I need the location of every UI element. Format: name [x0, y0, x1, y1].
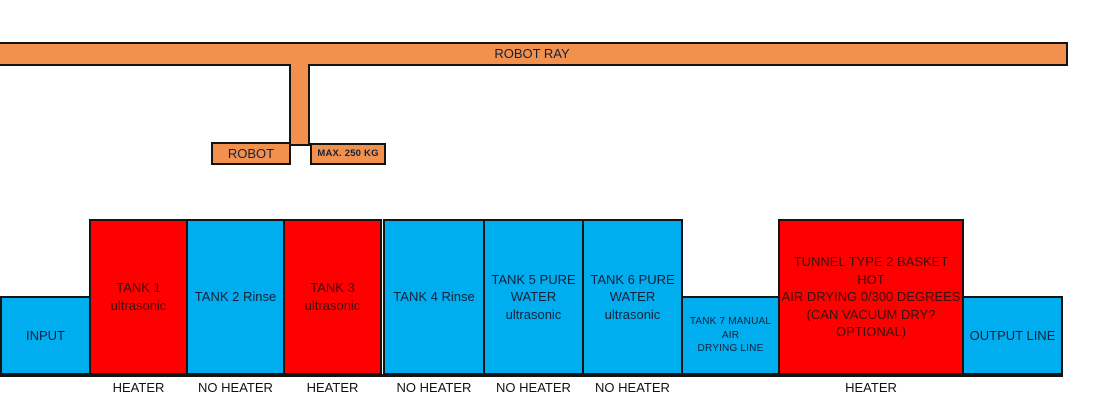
station-label-line: TANK 1	[116, 279, 161, 297]
heater-caption-tank-2: NO HEATER	[186, 377, 285, 397]
station-tank-3: TANK 3 ultrasonic	[283, 219, 382, 375]
robot-column	[289, 64, 310, 146]
station-label-line: TANK 5 PURE	[491, 271, 575, 289]
station-tank-4: TANK 4 Rinse	[383, 219, 485, 375]
station-tank-2: TANK 2 Rinse	[186, 219, 285, 375]
station-label-line: TANK 3	[310, 279, 355, 297]
station-label-line: (CAN VACUUM DRY?	[807, 306, 936, 324]
heater-caption-text: NO HEATER	[397, 380, 472, 395]
heater-caption-text: NO HEATER	[595, 380, 670, 395]
station-label-line: ultrasonic	[506, 306, 562, 324]
station-label-line: INPUT	[26, 327, 65, 345]
station-input: INPUT	[0, 296, 91, 375]
heater-caption-tank-3: HEATER	[283, 377, 382, 397]
robot-capacity-label: MAX. 250 KG	[317, 148, 378, 161]
station-drying-tunnel: TUNNEL TYPE 2 BASKET HOT AIR DRYING 0/30…	[778, 219, 964, 375]
station-label-line: AIR DRYING 0/300 DEGREES	[782, 288, 961, 306]
station-tank-6: TANK 6 PURE WATER ultrasonic	[582, 219, 683, 375]
station-tank-1: TANK 1 ultrasonic	[89, 219, 188, 375]
station-label-line: ultrasonic	[305, 297, 361, 315]
heater-caption-tank-6: NO HEATER	[582, 377, 683, 397]
station-label-line: ultrasonic	[111, 297, 167, 315]
robot-ray-beam: ROBOT RAY	[0, 42, 1068, 66]
station-tank-7: TANK 7 MANUAL AIR DRYING LINE	[681, 296, 780, 375]
station-label-line: TANK 6 PURE	[590, 271, 674, 289]
station-label-line: TANK 4 Rinse	[393, 288, 474, 306]
robot-label: ROBOT	[228, 145, 274, 163]
robot-capacity-badge: MAX. 250 KG	[310, 143, 386, 165]
robot-ray-label: ROBOT RAY	[494, 45, 569, 63]
station-label-line: WATER	[511, 288, 557, 306]
heater-caption-tank-4: NO HEATER	[383, 377, 485, 397]
station-label-line: TUNNEL TYPE 2 BASKET HOT	[780, 253, 962, 288]
process-flow-diagram: ROBOT RAY ROBOT MAX. 250 KG INPUT TANK 1…	[0, 0, 1120, 402]
station-label-line: WATER	[610, 288, 656, 306]
heater-caption-text: NO HEATER	[496, 380, 571, 395]
heater-caption-text: HEATER	[113, 380, 165, 395]
robot-carriage: ROBOT	[211, 142, 291, 165]
station-label-line: TANK 7 MANUAL AIR	[683, 315, 778, 342]
heater-caption-drying-tunnel: HEATER	[778, 377, 964, 397]
station-label-line: OUTPUT LINE	[970, 327, 1056, 345]
station-tank-5: TANK 5 PURE WATER ultrasonic	[483, 219, 584, 375]
station-output-line: OUTPUT LINE	[962, 296, 1063, 375]
station-label-line: OPTIONAL)	[836, 323, 906, 341]
station-label-line: TANK 2 Rinse	[195, 288, 276, 306]
station-label-line: DRYING LINE	[698, 342, 764, 356]
station-label-line: ultrasonic	[605, 306, 661, 324]
heater-caption-text: HEATER	[845, 380, 897, 395]
heater-caption-text: HEATER	[307, 380, 359, 395]
heater-caption-tank-5: NO HEATER	[483, 377, 584, 397]
heater-caption-text: NO HEATER	[198, 380, 273, 395]
heater-caption-tank-1: HEATER	[89, 377, 188, 397]
